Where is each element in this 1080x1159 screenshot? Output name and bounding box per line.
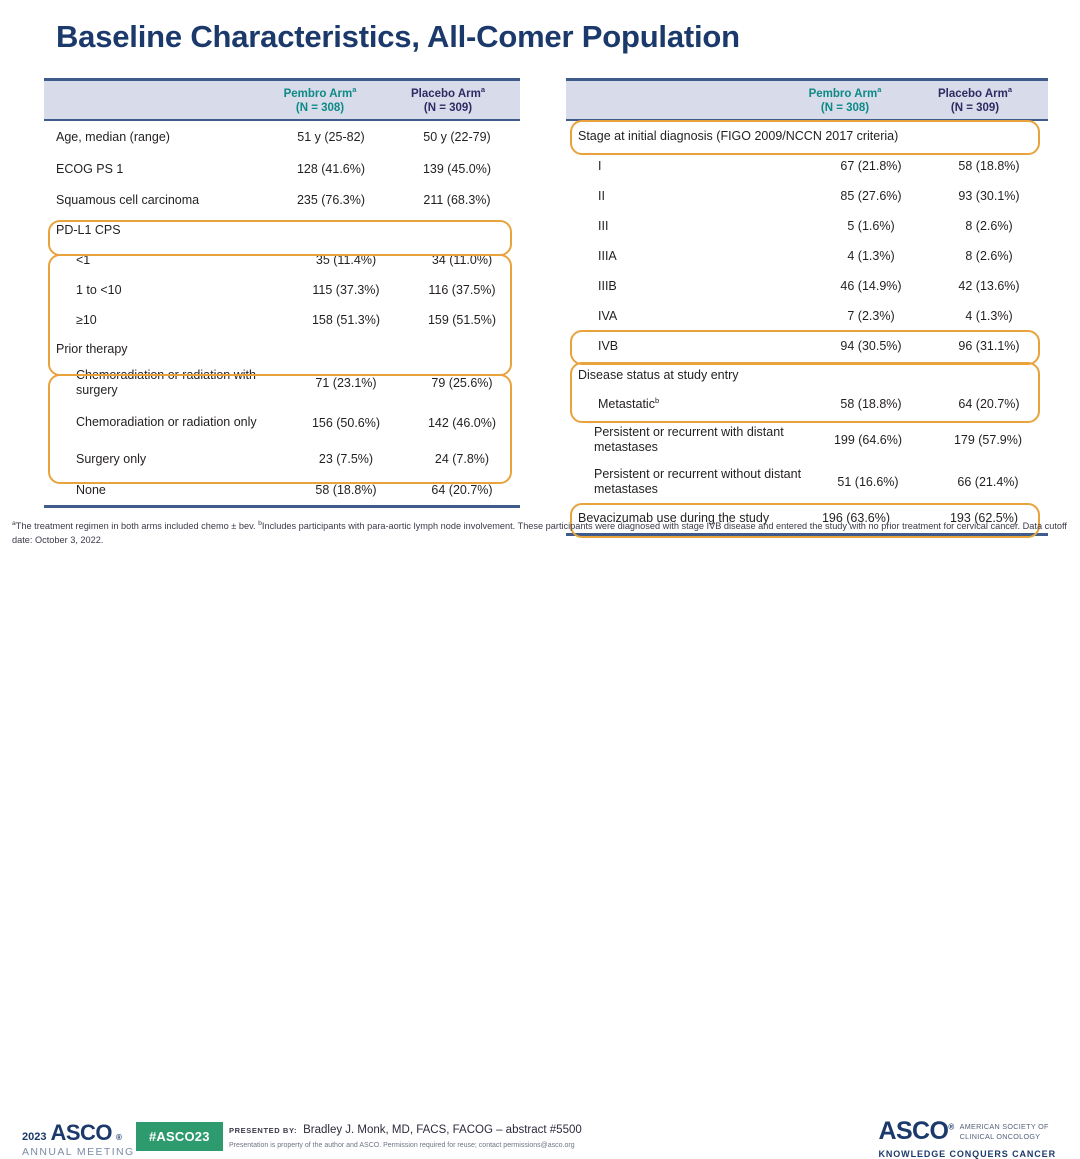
- table-row: 1 to <10 115 (37.3%) 116 (37.5%): [44, 275, 520, 305]
- row-value-placebo: 24 (7.8%): [404, 452, 520, 466]
- right-header-placebo-n: (N = 309): [951, 102, 999, 114]
- asco-logo-brand-text: ASCO: [878, 1117, 948, 1145]
- table-row: Chemoradiation or radiation only 156 (50…: [44, 403, 520, 443]
- right-table-body: Stage at initial diagnosis (FIGO 2009/NC…: [566, 121, 1048, 533]
- hashtag-badge: #ASCO23: [136, 1122, 223, 1151]
- row-label: IIIB: [566, 279, 812, 293]
- table-row: Disease status at study entry: [566, 361, 1048, 389]
- table-row: ECOG PS 1 128 (41.6%) 139 (45.0%): [44, 153, 520, 185]
- right-table-header: Pembro Arma (N = 308) Placebo Arma (N = …: [566, 81, 1048, 121]
- asco-logo-subtitle-line1: AMERICAN SOCIETY OF: [960, 1122, 1049, 1131]
- table-row: PD-L1 CPS: [44, 215, 520, 245]
- registered-mark-icon: ®: [116, 1134, 122, 1142]
- row-label: <1: [44, 253, 288, 267]
- right-header-pembro-n: (N = 308): [821, 102, 869, 114]
- row-value-placebo: 179 (57.9%): [928, 433, 1048, 447]
- row-value-pembro: 51 y (25-82): [268, 130, 394, 144]
- row-label: PD-L1 CPS: [44, 223, 268, 237]
- row-value-pembro: 7 (2.3%): [812, 309, 930, 323]
- row-label: Persistent or recurrent without distant …: [566, 467, 808, 498]
- right-header-pembro: Pembro Arma (N = 308): [780, 85, 910, 115]
- table-row: IIIA 4 (1.3%) 8 (2.6%): [566, 241, 1048, 271]
- presenter-block: PRESENTED BY: Bradley J. Monk, MD, FACS,…: [229, 1124, 582, 1149]
- table-row: Chemoradiation or radiation with surgery…: [44, 363, 520, 403]
- row-value-placebo: 159 (51.5%): [404, 313, 520, 327]
- row-label: ECOG PS 1: [44, 162, 268, 176]
- row-label: II: [566, 189, 812, 203]
- row-label: 1 to <10: [44, 283, 288, 297]
- row-value-placebo: 58 (18.8%): [930, 159, 1048, 173]
- footnote-marker-a: a: [877, 85, 881, 94]
- asco-meeting-line1: 2023 ASCO ®: [22, 1122, 135, 1144]
- row-value-placebo: 42 (13.6%): [930, 279, 1048, 293]
- row-label: Disease status at study entry: [566, 368, 792, 382]
- row-value-pembro: 94 (30.5%): [812, 339, 930, 353]
- right-header-placebo-label: Placebo Arm: [938, 88, 1008, 100]
- row-value-pembro: 4 (1.3%): [812, 249, 930, 263]
- left-header-pembro: Pembro Arma (N = 308): [256, 85, 384, 115]
- footnote-marker-a: a: [352, 85, 356, 94]
- row-value-pembro: 23 (7.5%): [288, 452, 404, 466]
- slide-footer: 2023 ASCO ® ANNUAL MEETING #ASCO23 PRESE…: [0, 556, 1080, 608]
- row-label: IVA: [566, 309, 812, 323]
- table-row: Metastaticb 58 (18.8%) 64 (20.7%): [566, 389, 1048, 419]
- left-header-placebo: Placebo Arma (N = 309): [384, 85, 512, 115]
- asco-logo-subtitle: AMERICAN SOCIETY OF CLINICAL ONCOLOGY: [960, 1122, 1049, 1141]
- row-value-placebo: 139 (45.0%): [394, 162, 520, 176]
- asco-meeting-brand: ASCO: [50, 1122, 112, 1144]
- table-row: Stage at initial diagnosis (FIGO 2009/NC…: [566, 121, 1048, 151]
- presented-by-label: PRESENTED BY:: [229, 1126, 297, 1135]
- row-value-pembro: 71 (23.1%): [288, 376, 404, 390]
- row-value-placebo: 142 (46.0%): [404, 416, 520, 430]
- row-value-pembro: 115 (37.3%): [288, 283, 404, 297]
- left-table: Pembro Arma (N = 308) Placebo Arma (N = …: [44, 78, 520, 508]
- asco-logo-row: ASCO® AMERICAN SOCIETY OF CLINICAL ONCOL…: [878, 1119, 1056, 1144]
- table-row: Surgery only 23 (7.5%) 24 (7.8%): [44, 443, 520, 474]
- asco-annual-meeting-logo: 2023 ASCO ® ANNUAL MEETING: [22, 1122, 135, 1158]
- row-value-pembro: 85 (27.6%): [812, 189, 930, 203]
- row-label: Metastatic: [598, 398, 655, 412]
- left-table-body: Age, median (range) 51 y (25-82) 50 y (2…: [44, 121, 520, 505]
- row-label: Stage at initial diagnosis (FIGO 2009/NC…: [566, 129, 1048, 143]
- row-label: IIIA: [566, 249, 812, 263]
- row-value-placebo: 34 (11.0%): [404, 253, 520, 267]
- row-value-placebo: 8 (2.6%): [930, 249, 1048, 263]
- footnote-marker-a: a: [481, 85, 485, 94]
- table-row: IVB 94 (30.5%) 96 (31.1%): [566, 331, 1048, 361]
- row-label: I: [566, 159, 812, 173]
- row-label: ≥10: [44, 313, 288, 327]
- table-row: I 67 (21.8%) 58 (18.8%): [566, 151, 1048, 181]
- row-value-pembro: 5 (1.6%): [812, 219, 930, 233]
- table-row: Persistent or recurrent with distant met…: [566, 419, 1048, 461]
- left-header-pembro-n: (N = 308): [296, 102, 344, 114]
- row-value-pembro: 156 (50.6%): [288, 416, 404, 430]
- row-label: Chemoradiation or radiation with surgery: [44, 368, 288, 399]
- table-row: III 5 (1.6%) 8 (2.6%): [566, 211, 1048, 241]
- table-row: Squamous cell carcinoma 235 (76.3%) 211 …: [44, 185, 520, 215]
- table-bottom-rule: [44, 505, 520, 508]
- row-value-pembro: 235 (76.3%): [268, 193, 394, 207]
- table-row: Age, median (range) 51 y (25-82) 50 y (2…: [44, 121, 520, 153]
- table-row: <1 35 (11.4%) 34 (11.0%): [44, 245, 520, 275]
- row-label: Age, median (range): [44, 130, 268, 144]
- row-value-pembro: 51 (16.6%): [808, 475, 928, 489]
- table-row: Persistent or recurrent without distant …: [566, 461, 1048, 503]
- table-row: Prior therapy: [44, 335, 520, 363]
- presenter-name: Bradley J. Monk, MD, FACS, FACOG – abstr…: [303, 1124, 582, 1136]
- asco-logo-tagline: KNOWLEDGE CONQUERS CANCER: [878, 1150, 1056, 1159]
- row-value-pembro: 35 (11.4%): [288, 253, 404, 267]
- registered-mark-icon: ®: [948, 1123, 953, 1132]
- table-row: ≥10 158 (51.3%) 159 (51.5%): [44, 305, 520, 335]
- row-value-placebo: 8 (2.6%): [930, 219, 1048, 233]
- row-label: IVB: [566, 339, 812, 353]
- row-value-pembro: 58 (18.8%): [288, 483, 404, 497]
- row-value-pembro: 128 (41.6%): [268, 162, 394, 176]
- asco-logo-subtitle-line2: CLINICAL ONCOLOGY: [960, 1132, 1041, 1141]
- row-value-pembro: 67 (21.8%): [812, 159, 930, 173]
- row-value-pembro: 199 (64.6%): [808, 433, 928, 447]
- row-value-placebo: 96 (31.1%): [930, 339, 1048, 353]
- presented-by-line: PRESENTED BY: Bradley J. Monk, MD, FACS,…: [229, 1124, 582, 1136]
- asco-meeting-year: 2023: [22, 1132, 46, 1143]
- footnote-marker-b: b: [655, 396, 659, 405]
- footnote-marker-a: a: [1008, 85, 1012, 94]
- right-table: Pembro Arma (N = 308) Placebo Arma (N = …: [566, 78, 1048, 536]
- right-header-pembro-label: Pembro Arm: [809, 88, 878, 100]
- row-value-placebo: 66 (21.4%): [928, 475, 1048, 489]
- row-value-placebo: 93 (30.1%): [930, 189, 1048, 203]
- row-label: Squamous cell carcinoma: [44, 193, 268, 207]
- table-row: IIIB 46 (14.9%) 42 (13.6%): [566, 271, 1048, 301]
- asco-meeting-subtitle: ANNUAL MEETING: [22, 1147, 135, 1158]
- left-header-pembro-label: Pembro Arm: [284, 88, 353, 100]
- row-value-placebo: 211 (68.3%): [394, 193, 520, 207]
- row-value-placebo: 64 (20.7%): [404, 483, 520, 497]
- row-label: None: [44, 483, 288, 497]
- right-header-placebo: Placebo Arma (N = 309): [910, 85, 1040, 115]
- asco-logo-brand: ASCO®: [878, 1119, 953, 1144]
- table-row: IVA 7 (2.3%) 4 (1.3%): [566, 301, 1048, 331]
- row-value-placebo: 116 (37.5%): [404, 283, 520, 297]
- row-value-pembro: 46 (14.9%): [812, 279, 930, 293]
- row-value-pembro: 158 (51.3%): [288, 313, 404, 327]
- table-row: II 85 (27.6%) 93 (30.1%): [566, 181, 1048, 211]
- row-label: Chemoradiation or radiation only: [44, 415, 288, 430]
- row-label-metastatic: Metastaticb: [566, 396, 812, 411]
- footnote: aThe treatment regimen in both arms incl…: [12, 519, 1070, 548]
- row-label: III: [566, 219, 812, 233]
- row-label: Prior therapy: [44, 342, 268, 356]
- row-label: Persistent or recurrent with distant met…: [566, 425, 808, 456]
- page-title: Baseline Characteristics, All-Comer Popu…: [56, 19, 740, 55]
- row-value-pembro: 58 (18.8%): [812, 397, 930, 411]
- asco-logo: ASCO® AMERICAN SOCIETY OF CLINICAL ONCOL…: [878, 1119, 1056, 1159]
- row-value-placebo: 79 (25.6%): [404, 376, 520, 390]
- slide-root: Baseline Characteristics, All-Comer Popu…: [0, 0, 1080, 608]
- left-table-header: Pembro Arma (N = 308) Placebo Arma (N = …: [44, 81, 520, 121]
- permission-notice: Presentation is property of the author a…: [229, 1142, 582, 1149]
- left-header-placebo-label: Placebo Arm: [411, 88, 481, 100]
- row-value-placebo: 4 (1.3%): [930, 309, 1048, 323]
- footnote-text-a: The treatment regimen in both arms inclu…: [16, 521, 258, 531]
- row-label: Surgery only: [44, 452, 288, 466]
- table-row: None 58 (18.8%) 64 (20.7%): [44, 474, 520, 505]
- row-value-placebo: 64 (20.7%): [930, 397, 1048, 411]
- row-value-placebo: 50 y (22-79): [394, 130, 520, 144]
- left-header-placebo-n: (N = 309): [424, 102, 472, 114]
